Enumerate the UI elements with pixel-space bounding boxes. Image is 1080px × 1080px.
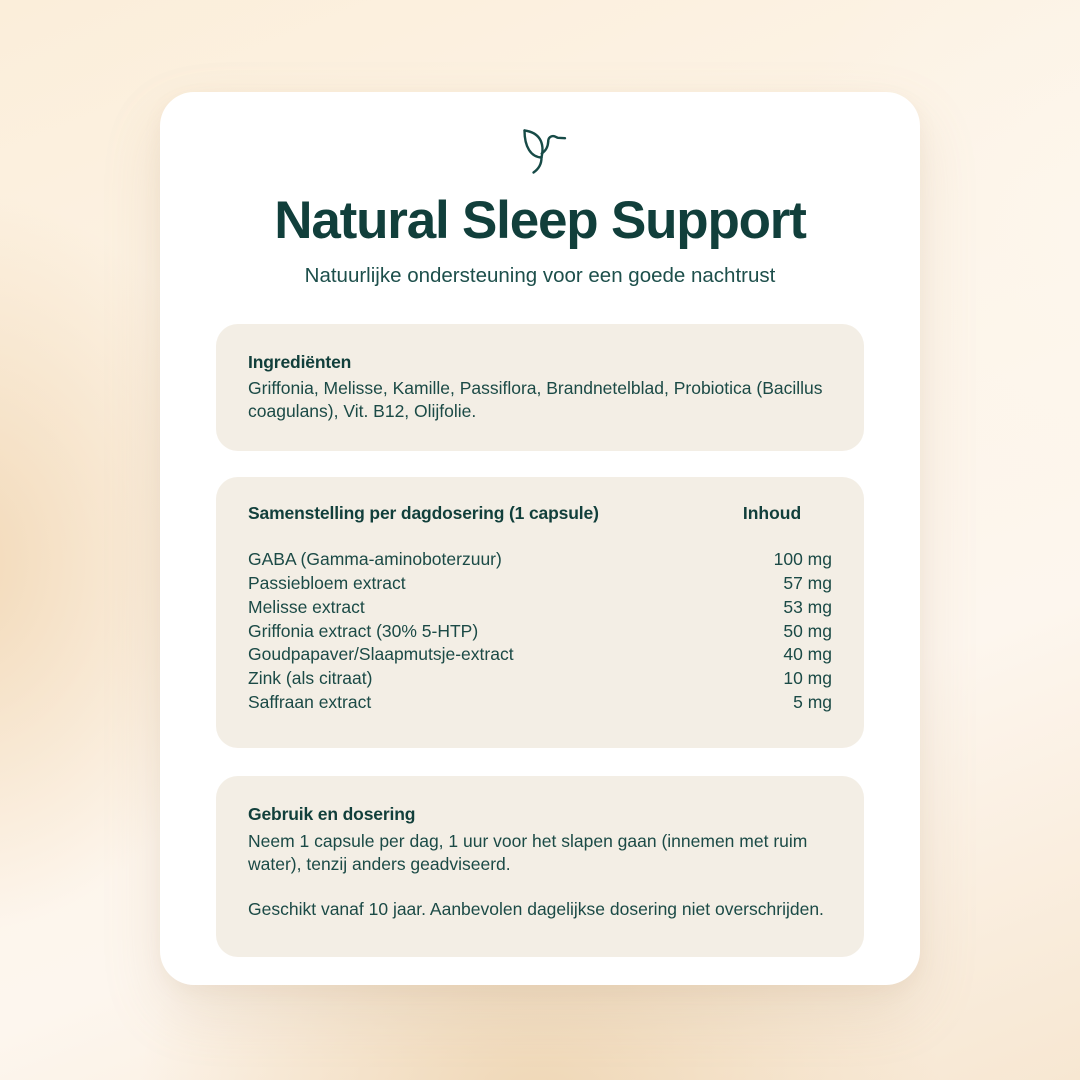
composition-row: Melisse extract53 mg (248, 596, 832, 620)
dosage-heading: Gebruik en dosering (248, 802, 832, 827)
composition-row-name: GABA (Gamma-aminoboterzuur) (248, 548, 502, 572)
dosage-paragraph-2: Geschikt vanaf 10 jaar. Aanbevolen dagel… (248, 898, 832, 921)
ingredients-panel: Ingrediënten Griffonia, Melisse, Kamille… (216, 324, 864, 452)
composition-row: GABA (Gamma-aminoboterzuur)100 mg (248, 548, 832, 572)
composition-amount-column-header: Inhoud (712, 503, 832, 524)
ingredients-heading: Ingrediënten (248, 350, 832, 375)
composition-table-header: Samenstelling per dagdosering (1 capsule… (248, 503, 832, 524)
leaf-sprout-icon (512, 124, 568, 176)
brand-logo (216, 92, 864, 176)
composition-row-name: Goudpapaver/Slaapmutsje-extract (248, 643, 514, 667)
composition-row-amount: 40 mg (712, 643, 832, 667)
page-title: Natural Sleep Support (216, 192, 864, 249)
composition-row: Saffraan extract5 mg (248, 691, 832, 715)
composition-heading: Samenstelling per dagdosering (1 capsule… (248, 503, 599, 524)
composition-row-name: Griffonia extract (30% 5-HTP) (248, 620, 478, 644)
composition-row-name: Saffraan extract (248, 691, 371, 715)
composition-row-name: Passiebloem extract (248, 572, 406, 596)
composition-row-name: Melisse extract (248, 596, 365, 620)
composition-row: Zink (als citraat)10 mg (248, 667, 832, 691)
composition-table-body: GABA (Gamma-aminoboterzuur)100 mgPassieb… (248, 548, 832, 714)
composition-row: Goudpapaver/Slaapmutsje-extract40 mg (248, 643, 832, 667)
dosage-paragraph-1: Neem 1 capsule per dag, 1 uur voor het s… (248, 830, 832, 876)
composition-row: Passiebloem extract57 mg (248, 572, 832, 596)
ingredients-text: Griffonia, Melisse, Kamille, Passiflora,… (248, 377, 832, 423)
composition-row-amount: 57 mg (712, 572, 832, 596)
dosage-panel: Gebruik en dosering Neem 1 capsule per d… (216, 776, 864, 957)
product-info-card: Natural Sleep Support Natuurlijke onders… (160, 92, 920, 985)
composition-row-amount: 5 mg (712, 691, 832, 715)
composition-row-amount: 53 mg (712, 596, 832, 620)
composition-row: Griffonia extract (30% 5-HTP)50 mg (248, 620, 832, 644)
composition-panel: Samenstelling per dagdosering (1 capsule… (216, 477, 864, 748)
composition-row-name: Zink (als citraat) (248, 667, 372, 691)
composition-row-amount: 50 mg (712, 620, 832, 644)
page-subtitle: Natuurlijke ondersteuning voor een goede… (216, 263, 864, 290)
composition-row-amount: 100 mg (712, 548, 832, 572)
composition-row-amount: 10 mg (712, 667, 832, 691)
